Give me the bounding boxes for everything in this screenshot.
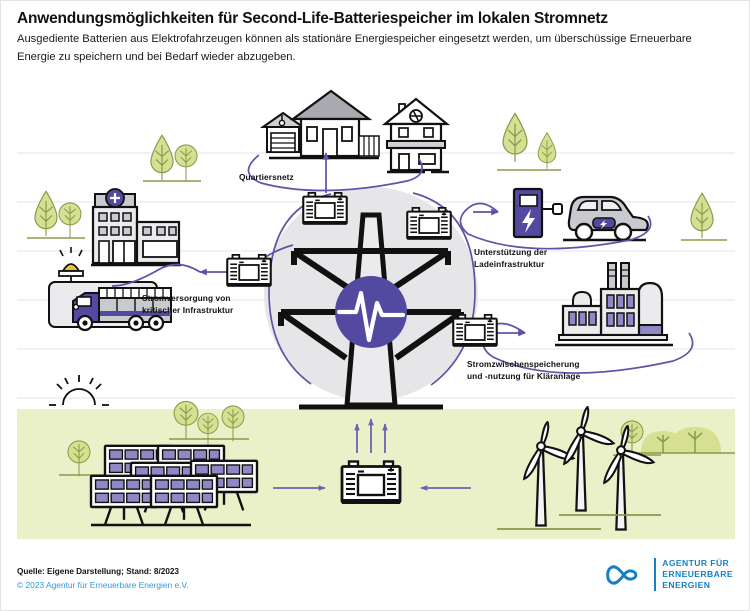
storage-battery bbox=[342, 462, 400, 505]
infinity-icon bbox=[593, 560, 647, 590]
tree-group-right bbox=[681, 193, 727, 240]
industrial-plant-icon bbox=[555, 263, 673, 345]
tree-group-left bbox=[27, 191, 85, 238]
sun-icon bbox=[49, 375, 109, 405]
bushes bbox=[633, 427, 735, 453]
diagram-canvas bbox=[1, 1, 750, 611]
organization-logo: AGENTUR FÜR ERNEUERBARE ENERGIEN bbox=[593, 558, 733, 591]
solar-panels-icon bbox=[91, 446, 257, 526]
label-ladeinfrastruktur: Unterstützung der Ladeinfrastruktur bbox=[474, 246, 547, 270]
battery-left bbox=[227, 255, 271, 287]
hospital-icon bbox=[91, 189, 181, 265]
infographic-page: Anwendungsmöglichkeiten für Second-Life-… bbox=[0, 0, 750, 611]
source-note: Quelle: Eigene Darstellung; Stand: 8/202… bbox=[17, 567, 517, 576]
tree-group-top-left bbox=[143, 135, 201, 181]
label-kritische-infrastruktur: Stromversorgung von kritischer Infrastru… bbox=[142, 292, 233, 316]
label-quartiersnetz: Quartiersnetz bbox=[239, 171, 294, 183]
battery-top bbox=[303, 193, 347, 225]
footer: Quelle: Eigene Darstellung; Stand: 8/202… bbox=[17, 567, 517, 590]
battery-upper-right bbox=[407, 208, 451, 240]
electric-car-icon bbox=[563, 197, 648, 240]
houses-icon bbox=[263, 91, 449, 172]
label-klaeranlage: Stromzwischenspeicherung und -nutzung fü… bbox=[467, 358, 580, 382]
battery-lower-right bbox=[453, 315, 497, 347]
ev-charger-icon bbox=[514, 189, 562, 237]
copyright-note: © 2023 Agentur für Erneuerbare Energien … bbox=[17, 580, 517, 590]
tree-group-top-right bbox=[497, 113, 561, 170]
logo-text: AGENTUR FÜR ERNEUERBARE ENERGIEN bbox=[654, 558, 733, 591]
